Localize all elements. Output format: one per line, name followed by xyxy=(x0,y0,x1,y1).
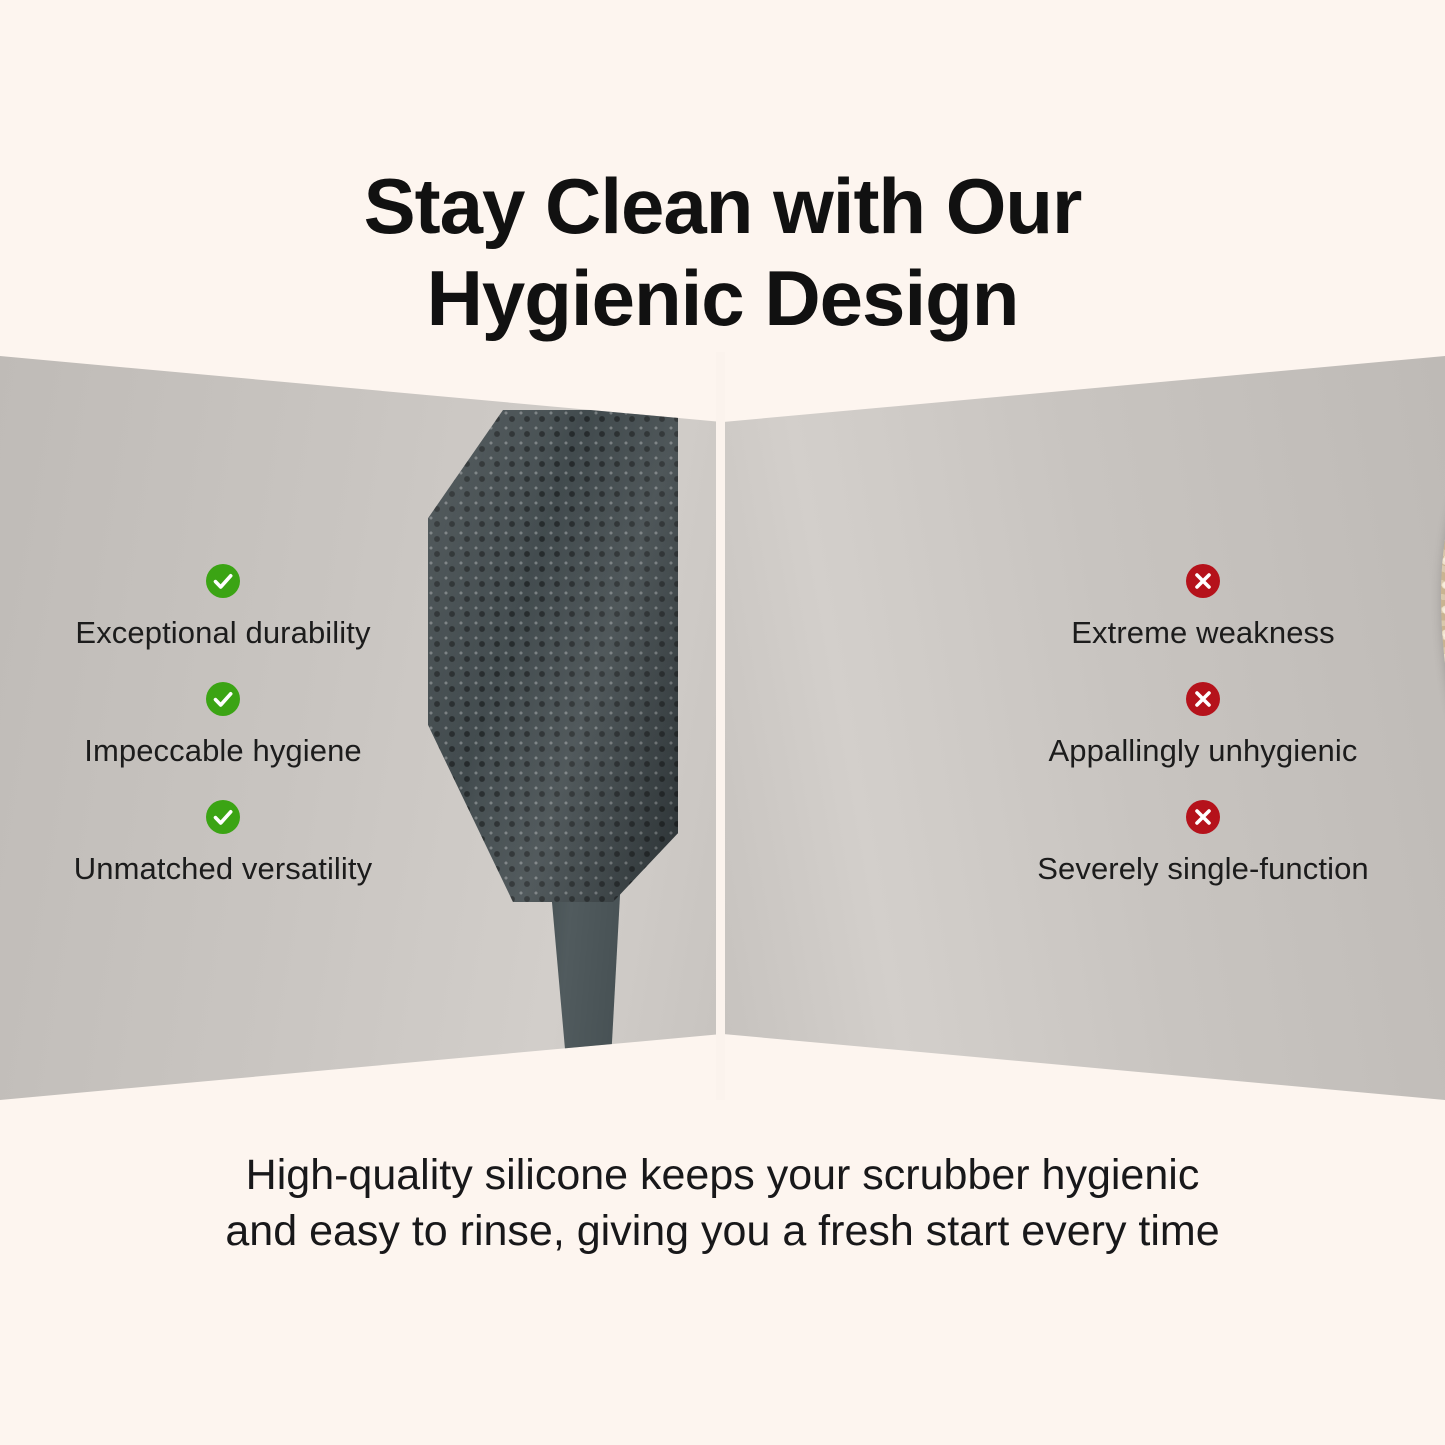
cross-circle-icon xyxy=(1185,563,1221,599)
cons-item-label: Severely single-function xyxy=(968,851,1438,887)
check-circle-icon xyxy=(205,563,241,599)
cross-circle-icon xyxy=(1185,799,1221,835)
center-divider xyxy=(716,352,725,1100)
pros-item-label: Unmatched versatility xyxy=(0,851,458,887)
pros-item: Impeccable hygiene xyxy=(0,681,458,769)
pros-item: Exceptional durability xyxy=(0,563,458,651)
slime-overlay xyxy=(1441,388,1445,838)
footer-caption: High-quality silicone keeps your scrubbe… xyxy=(0,1148,1445,1260)
caption-line-2: and easy to rinse, giving you a fresh st… xyxy=(110,1204,1335,1260)
infographic-stage: Stay Clean with Our Hygienic Design xyxy=(0,0,1445,1445)
caption-line-1: High-quality silicone keeps your scrubbe… xyxy=(246,1151,1200,1199)
pros-item-label: Exceptional durability xyxy=(0,615,458,651)
cross-circle-icon xyxy=(1185,681,1221,717)
headline-line-1: Stay Clean with Our xyxy=(364,162,1082,250)
check-circle-icon xyxy=(205,681,241,717)
cons-item-label: Extreme weakness xyxy=(968,615,1438,651)
cons-item-label: Appallingly unhygienic xyxy=(968,733,1438,769)
pros-item-label: Impeccable hygiene xyxy=(0,733,458,769)
cons-item: Extreme weakness xyxy=(968,563,1438,651)
cons-item: Appallingly unhygienic xyxy=(968,681,1438,769)
brush-head xyxy=(1441,388,1445,838)
headline-line-2: Hygienic Design xyxy=(150,252,1295,344)
scrubber-head xyxy=(428,410,678,902)
check-circle-icon xyxy=(205,799,241,835)
cons-item: Severely single-function xyxy=(968,799,1438,887)
silicone-scrubber-product xyxy=(424,392,684,1092)
scrubber-sheen xyxy=(428,410,678,902)
page-title: Stay Clean with Our Hygienic Design xyxy=(0,160,1445,344)
pros-item: Unmatched versatility xyxy=(0,799,458,887)
